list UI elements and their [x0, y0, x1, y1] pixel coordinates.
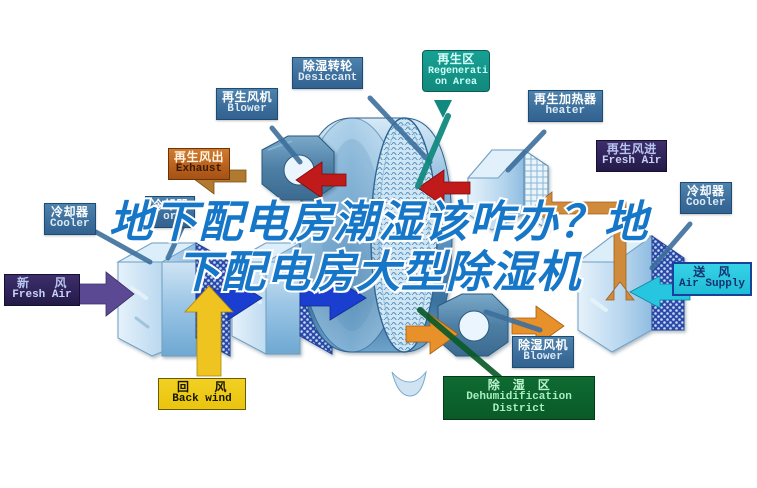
label-regen-heater-en: heater	[534, 106, 597, 118]
label-dehum-blower-cn: 除湿风机	[518, 339, 568, 352]
diagram-canvas: XT	[0, 0, 757, 488]
dehumidification-blower	[438, 294, 508, 356]
label-regen-fresh-air-en: Fresh Air	[602, 156, 661, 168]
label-regen-exhaust-cn: 再生风出	[174, 151, 224, 164]
label-desiccant-wheel-cn: 除湿转轮	[298, 60, 357, 73]
label-regen-blower-en: Blower	[222, 104, 272, 116]
label-regen-fresh-air[interactable]: 再生风进 Fresh Air	[596, 140, 667, 172]
label-regen-exhaust-en: Exhaust	[174, 164, 224, 176]
label-regeneration-area-cn: 再生区	[428, 53, 484, 66]
label-regen-heater[interactable]: 再生加热器 heater	[528, 90, 603, 122]
label-dehum-blower[interactable]: 除湿风机 Blower	[512, 336, 574, 368]
overlay-headline-line1: 地下配电房潮湿该咋办？地	[0, 198, 757, 248]
regeneration-blower	[262, 136, 334, 200]
overlay-headline-line2: 下配电房大型除湿机	[0, 248, 757, 298]
label-regen-fresh-air-cn: 再生风进	[602, 143, 661, 156]
label-regen-blower-cn: 再生风机	[222, 91, 272, 104]
overlay-headline: 地下配电房潮湿该咋办？地 下配电房大型除湿机	[0, 198, 757, 298]
label-regen-heater-cn: 再生加热器	[534, 93, 597, 106]
label-dehum-blower-en: Blower	[518, 352, 568, 364]
label-back-wind-cn: 回 风	[164, 381, 240, 394]
drain-pan	[392, 372, 426, 396]
label-regen-blower[interactable]: 再生风机 Blower	[216, 88, 278, 120]
label-cooler-right-cn: 冷却器	[686, 185, 726, 198]
label-back-wind[interactable]: 回 风 Back wind	[158, 378, 246, 410]
label-dehumidification-district-en2: District	[449, 404, 589, 416]
label-back-wind-en: Back wind	[164, 394, 240, 406]
label-regeneration-area[interactable]: 再生区 Regenerati on Area	[422, 50, 490, 92]
label-desiccant-wheel[interactable]: 除湿转轮 Desiccant	[292, 57, 363, 89]
label-dehumidification-district[interactable]: 除 湿 区 Dehumidification District	[443, 376, 595, 420]
label-desiccant-wheel-en: Desiccant	[298, 73, 357, 85]
label-regen-exhaust[interactable]: 再生风出 Exhaust	[168, 148, 230, 180]
label-regeneration-area-tail	[434, 100, 452, 118]
label-regeneration-area-en: Regenerati on Area	[428, 66, 484, 88]
label-dehumidification-district-cn: 除 湿 区	[449, 379, 589, 392]
